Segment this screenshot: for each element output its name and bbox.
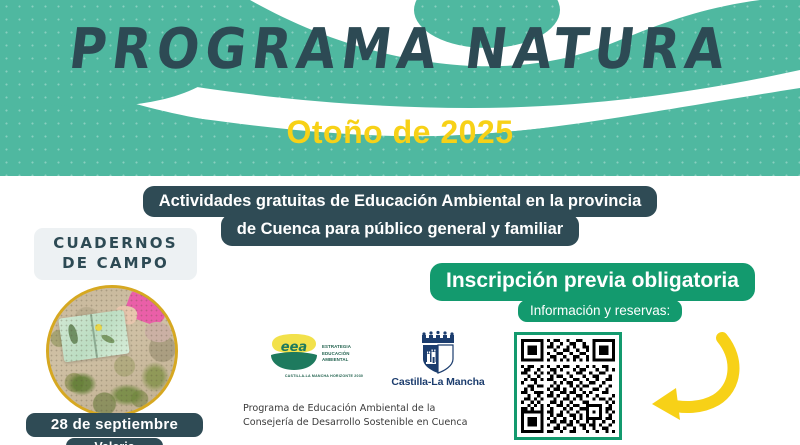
eea-text-line-1: ESTRATEGIA — [322, 344, 376, 351]
footnote-line-2: Consejería de Desarrollo Sostenible en C… — [243, 416, 493, 430]
svg-text:eea: eea — [281, 340, 307, 355]
castilla-la-mancha-logo: Castilla-La Mancha — [388, 330, 488, 388]
curved-arrow-icon — [636, 330, 746, 430]
eea-logo-footer: CASTILLA-LA MANCHA HORIZONTE 2030 — [268, 374, 380, 378]
season-label: Otoño de 2025 — [0, 114, 800, 151]
poster-header: PROGRAMA NATURA Otoño de 2025 — [0, 0, 800, 176]
eea-logo: eea ESTRATEGIA EDUCACIÓN AMBIENTAL CASTI… — [268, 334, 378, 384]
photo-grain-texture — [49, 288, 175, 414]
registration-info-label: Información y reservas: — [518, 300, 682, 322]
activity-photo — [46, 285, 178, 417]
registration-headline: Inscripción previa obligatoria — [430, 263, 755, 301]
logo-row: eea ESTRATEGIA EDUCACIÓN AMBIENTAL CASTI… — [260, 330, 490, 388]
subtitle-line-1: Actividades gratuitas de Educación Ambie… — [143, 186, 658, 217]
poster: PROGRAMA NATURA Otoño de 2025 Actividade… — [0, 0, 800, 445]
activity-title: CUADERNOS DE CAMPO — [34, 228, 197, 280]
eea-logo-icon: eea — [268, 334, 320, 374]
activity-title-line-2: DE CAMPO — [62, 254, 169, 272]
qr-code-icon — [521, 339, 615, 433]
footnote-line-1: Programa de Educación Ambiental de la — [243, 402, 493, 416]
activity-card[interactable]: CUADERNOS DE CAMPO 28 de septiembre Vale… — [8, 228, 213, 443]
activity-place: Valeria — [66, 438, 163, 445]
eea-text-line-2: EDUCACIÓN — [322, 351, 376, 358]
subtitle-line-2: de Cuenca para público general y familia… — [221, 214, 579, 245]
page-title: PROGRAMA NATURA — [0, 17, 800, 82]
eea-text-line-3: AMBIENTAL — [322, 357, 376, 364]
activity-title-line-1: CUADERNOS — [53, 234, 178, 252]
qr-code[interactable] — [514, 332, 622, 440]
footnote: Programa de Educación Ambiental de la Co… — [243, 402, 493, 430]
eea-logo-text: ESTRATEGIA EDUCACIÓN AMBIENTAL — [322, 344, 376, 364]
castilla-la-mancha-name: Castilla-La Mancha — [388, 376, 488, 388]
castilla-la-mancha-shield-icon — [388, 330, 488, 376]
activity-date: 28 de septiembre — [26, 413, 203, 437]
